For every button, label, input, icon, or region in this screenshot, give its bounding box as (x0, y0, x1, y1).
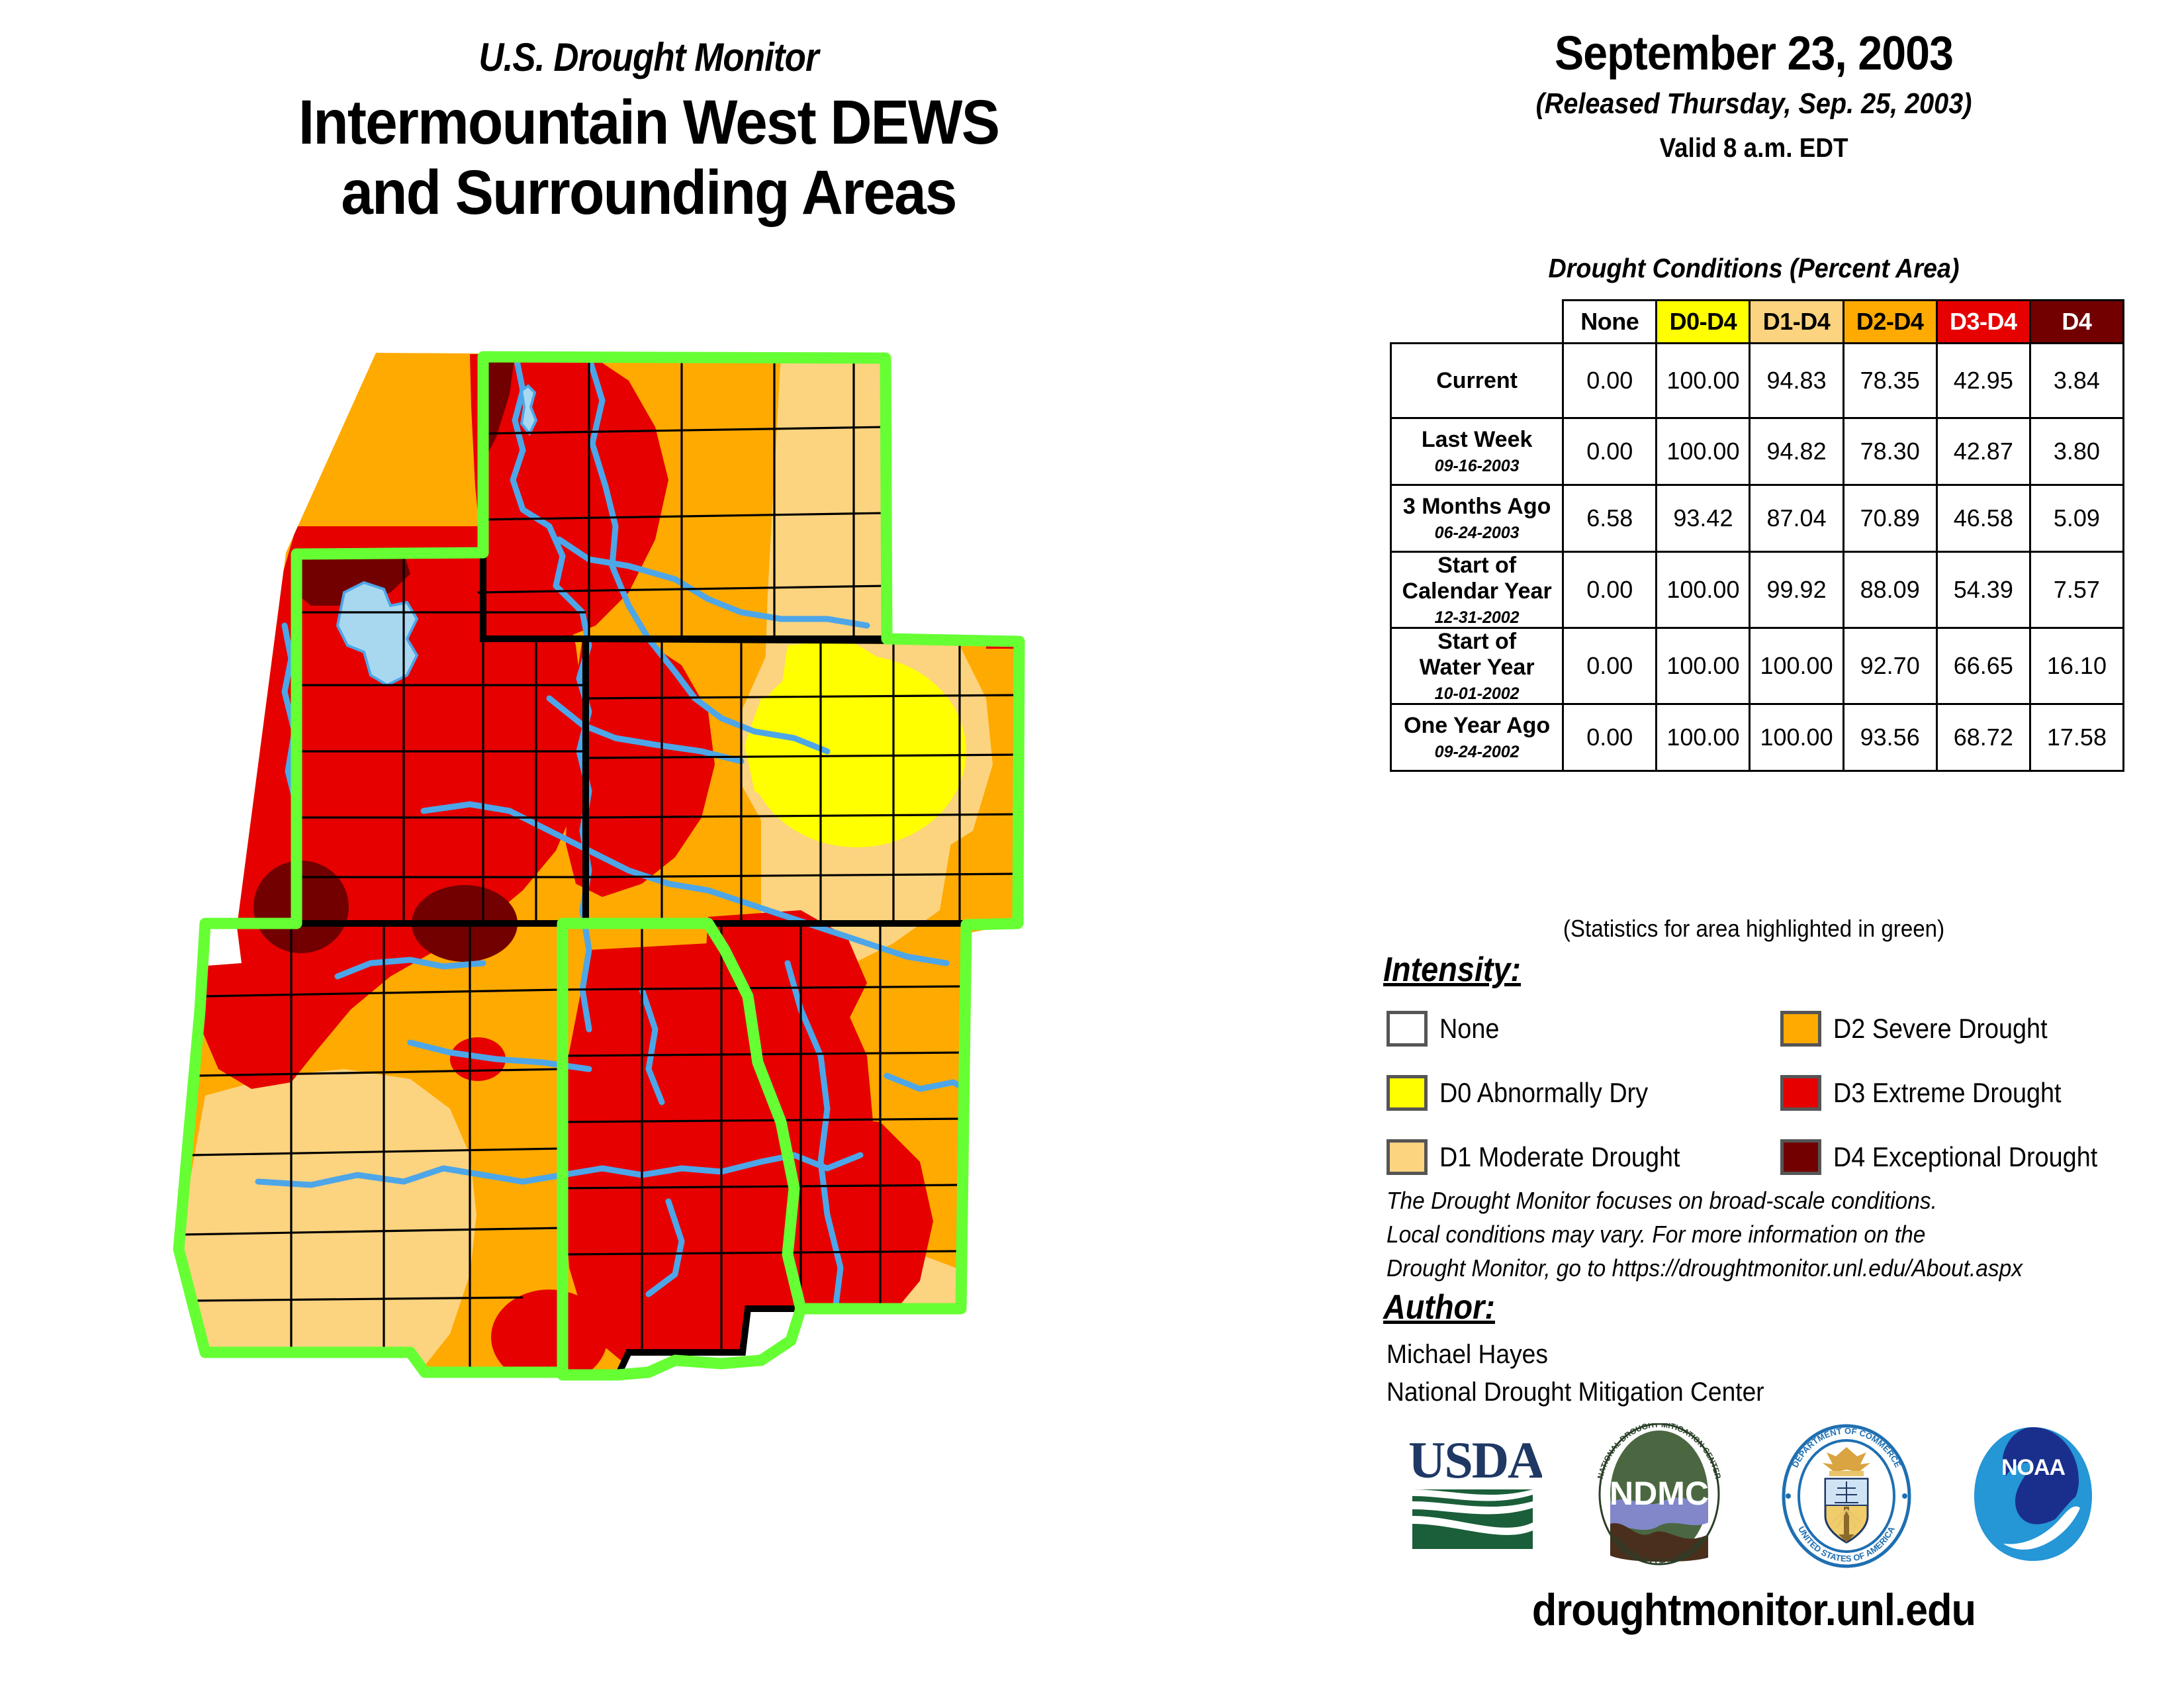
table-row: One Year Ago09-24-20020.00100.00100.0093… (1391, 704, 2124, 771)
cell-d0-d4: 100.00 (1657, 704, 1750, 771)
author-name: Michael Hayes (1387, 1336, 1764, 1374)
cell-d2-d4: 78.30 (1843, 418, 1936, 485)
cell-none: 0.00 (1563, 552, 1657, 628)
cell-d2-d4: 70.89 (1843, 485, 1936, 552)
legend-label-none: None (1439, 1013, 1499, 1045)
table-caption: Drought Conditions (Percent Area) (1358, 253, 2150, 284)
cell-d1-d4: 100.00 (1750, 704, 1843, 771)
cell-d0-d4: 100.00 (1657, 628, 1750, 704)
disclaimer-text: The Drought Monitor focuses on broad-sca… (1387, 1184, 2181, 1285)
legend-item-d0[interactable]: D0 Abnormally Dry (1387, 1060, 1707, 1125)
cell-d0-d4: 93.42 (1657, 485, 1750, 552)
legend-item-none[interactable]: None (1387, 996, 1707, 1060)
author-affiliation: National Drought Mitigation Center (1387, 1374, 1764, 1411)
right-panel: September 23, 2003 (Released Thursday, S… (1324, 0, 2184, 1688)
statistics-note: (Statistics for area highlighted in gree… (1358, 915, 2150, 943)
legend-swatch-d1 (1387, 1139, 1428, 1175)
cell-d4: 5.09 (2030, 485, 2123, 552)
legend-item-d2[interactable]: D2 Severe Drought (1780, 996, 2127, 1060)
cell-d1-d4: 87.04 (1750, 485, 1843, 552)
intensity-heading: Intensity: (1383, 950, 1521, 990)
cell-d3-d4: 66.65 (1936, 628, 2030, 704)
legend-column-left: None D0 Abnormally Dry D1 Moderate Droug… (1387, 996, 1707, 1189)
noaa-logo[interactable]: NOAA (1962, 1423, 2105, 1569)
disclaimer-line-2: Local conditions may vary. For more info… (1387, 1217, 2125, 1251)
column-header-d0-d4: D0-D4 (1657, 301, 1750, 344)
legend-swatch-none (1387, 1011, 1428, 1047)
title-block: U.S. Drought Monitor Intermountain West … (0, 36, 1297, 228)
table-row: Last Week09-16-20030.00100.0094.8278.304… (1391, 418, 2124, 485)
sub-title: U.S. Drought Monitor (78, 36, 1220, 78)
disclaimer-line-3: Drought Monitor, go to https://droughtmo… (1387, 1251, 2125, 1285)
cell-d3-d4: 46.58 (1936, 485, 2030, 552)
column-header-none: None (1563, 301, 1657, 344)
valid-time: Valid 8 a.m. EDT (1367, 132, 2141, 164)
table-row: Current0.00100.0094.8378.3542.953.84 (1391, 344, 2124, 418)
row-label-date: 10-01-2002 (1392, 684, 1562, 704)
table-row: 3 Months Ago06-24-20036.5893.4287.0470.8… (1391, 485, 2124, 552)
cell-d1-d4: 94.82 (1750, 418, 1843, 485)
column-header-d1-d4: D1-D4 (1750, 301, 1843, 344)
cell-none: 0.00 (1563, 628, 1657, 704)
author-heading: Author: (1383, 1288, 1495, 1327)
legend-swatch-d0 (1387, 1075, 1428, 1111)
legend-item-d1[interactable]: D1 Moderate Drought (1387, 1125, 1707, 1189)
legend-label-d1: D1 Moderate Drought (1439, 1141, 1680, 1173)
cell-d1-d4: 99.92 (1750, 552, 1843, 628)
author-info: Michael Hayes National Drought Mitigatio… (1387, 1336, 1793, 1411)
cell-none: 6.58 (1563, 485, 1657, 552)
cell-none: 0.00 (1563, 418, 1657, 485)
column-header-d4: D4 (2030, 301, 2123, 344)
report-date: September 23, 2003 (1358, 26, 2150, 81)
cell-d2-d4: 92.70 (1843, 628, 1936, 704)
row-label-date: 09-16-2003 (1392, 457, 1562, 476)
legend-column-right: D2 Severe Drought D3 Extreme Drought D4 … (1780, 996, 2127, 1189)
cell-d1-d4: 100.00 (1750, 628, 1843, 704)
cell-d0-d4: 100.00 (1657, 344, 1750, 418)
row-label: Start ofWater Year10-01-2002 (1391, 628, 1563, 704)
cell-d0-d4: 100.00 (1657, 552, 1750, 628)
logos-row: USDA NDMC NATIONAL DROUGHT MITIGATION CE… (1396, 1423, 2158, 1569)
header-spacer (1391, 301, 1563, 344)
site-url[interactable]: droughtmonitor.unl.edu (1367, 1584, 2141, 1636)
cell-none: 0.00 (1563, 344, 1657, 418)
table-header-row: None D0-D4 D1-D4 D2-D4 D3-D4 D4 (1391, 301, 2124, 344)
cell-none: 0.00 (1563, 704, 1657, 771)
cell-d4: 3.84 (2030, 344, 2123, 418)
legend-swatch-d2 (1780, 1011, 1821, 1047)
page-title: Intermountain West DEWS and Surrounding … (52, 87, 1245, 228)
svg-text:NDMC: NDMC (1610, 1475, 1709, 1512)
legend-label-d3: D3 Extreme Drought (1833, 1077, 2062, 1109)
row-label-date: 09-24-2002 (1392, 743, 1562, 762)
legend-label-d2: D2 Severe Drought (1833, 1013, 2048, 1045)
disclaimer-line-1: The Drought Monitor focuses on broad-sca… (1387, 1184, 2125, 1217)
table-row: Start ofCalendar Year12-31-20020.00100.0… (1391, 552, 2124, 628)
legend-label-d0: D0 Abnormally Dry (1439, 1077, 1648, 1109)
row-label: One Year Ago09-24-2002 (1391, 704, 1563, 771)
row-label: 3 Months Ago06-24-2003 (1391, 485, 1563, 552)
main-title-line1: Intermountain West DEWS (52, 87, 1245, 158)
row-label-date: 06-24-2003 (1392, 524, 1562, 543)
column-header-d3-d4: D3-D4 (1936, 301, 2030, 344)
cell-d0-d4: 100.00 (1657, 418, 1750, 485)
cell-d2-d4: 78.35 (1843, 344, 1936, 418)
legend-item-d3[interactable]: D3 Extreme Drought (1780, 1060, 2127, 1125)
column-header-d2-d4: D2-D4 (1843, 301, 1936, 344)
row-label-date: 12-31-2002 (1392, 608, 1562, 628)
cell-d4: 3.80 (2030, 418, 2123, 485)
cell-d3-d4: 54.39 (1936, 552, 2030, 628)
cell-d4: 16.10 (2030, 628, 2123, 704)
cell-d3-d4: 42.87 (1936, 418, 2030, 485)
map-svg[interactable] (126, 328, 1264, 1585)
drought-conditions-table: None D0-D4 D1-D4 D2-D4 D3-D4 D4 Current0… (1390, 299, 2124, 772)
cell-d1-d4: 94.83 (1750, 344, 1843, 418)
date-block: September 23, 2003 (Released Thursday, S… (1324, 26, 2184, 164)
cell-d3-d4: 68.72 (1936, 704, 2030, 771)
table-body: Current0.00100.0094.8378.3542.953.84Last… (1391, 344, 2124, 771)
svg-text:USDA: USDA (1408, 1431, 1542, 1489)
cell-d2-d4: 88.09 (1843, 552, 1936, 628)
row-label: Last Week09-16-2003 (1391, 418, 1563, 485)
row-label: Start ofCalendar Year12-31-2002 (1391, 552, 1563, 628)
table-row: Start ofWater Year10-01-20020.00100.0010… (1391, 628, 2124, 704)
row-label: Current (1391, 344, 1563, 418)
legend-item-d4[interactable]: D4 Exceptional Drought (1780, 1125, 2127, 1189)
svg-text:NOAA: NOAA (2001, 1455, 2066, 1480)
release-date: (Released Thursday, Sep. 25, 2003) (1367, 87, 2141, 120)
legend-swatch-d3 (1780, 1075, 1821, 1111)
left-panel: U.S. Drought Monitor Intermountain West … (0, 0, 1324, 1688)
legend-swatch-d4 (1780, 1139, 1821, 1175)
ndmc-logo[interactable]: NDMC NATIONAL DROUGHT MITIGATION CENTER … (1588, 1423, 1731, 1569)
usda-logo[interactable]: USDA (1403, 1423, 1542, 1559)
cell-d3-d4: 42.95 (1936, 344, 2030, 418)
cell-d2-d4: 93.56 (1843, 704, 1936, 771)
department-of-commerce-seal[interactable]: DEPARTMENT OF COMMERCE UNITED STATES OF … (1774, 1423, 1919, 1572)
main-title-line2: and Surrounding Areas (52, 158, 1245, 228)
legend-label-d4: D4 Exceptional Drought (1833, 1141, 2097, 1173)
cell-d4: 17.58 (2030, 704, 2123, 771)
drought-map[interactable] (126, 328, 1264, 1585)
cell-d4: 7.57 (2030, 552, 2123, 628)
